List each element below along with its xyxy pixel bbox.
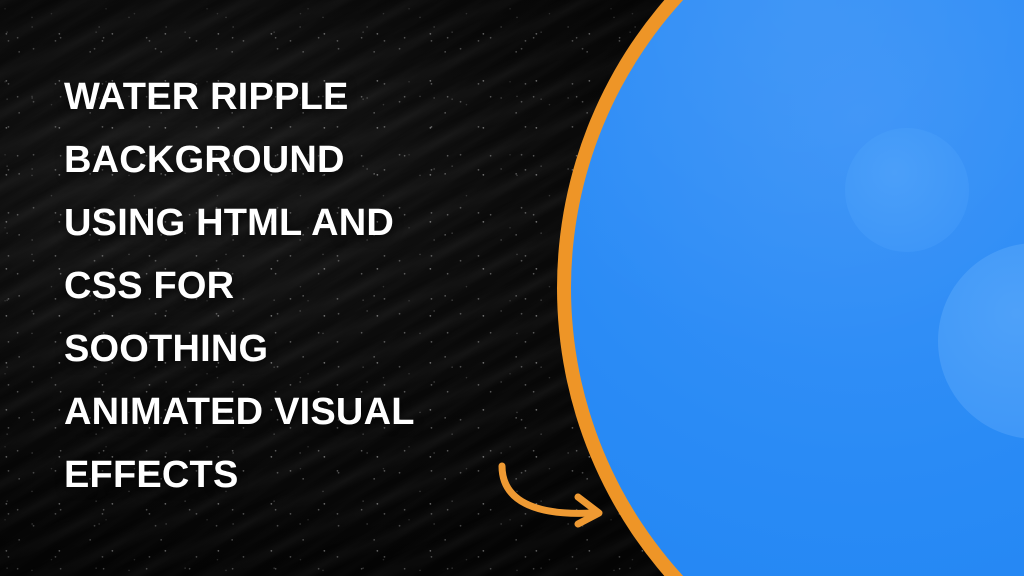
thumbnail-canvas: WATER RIPPLE BACKGROUND USING HTML AND C… [0,0,1024,576]
blue-ripple-circle [571,0,1024,576]
ripple-bubble-top [845,128,969,252]
circle-graphic [557,0,1024,576]
page-title: WATER RIPPLE BACKGROUND USING HTML AND C… [64,66,534,507]
